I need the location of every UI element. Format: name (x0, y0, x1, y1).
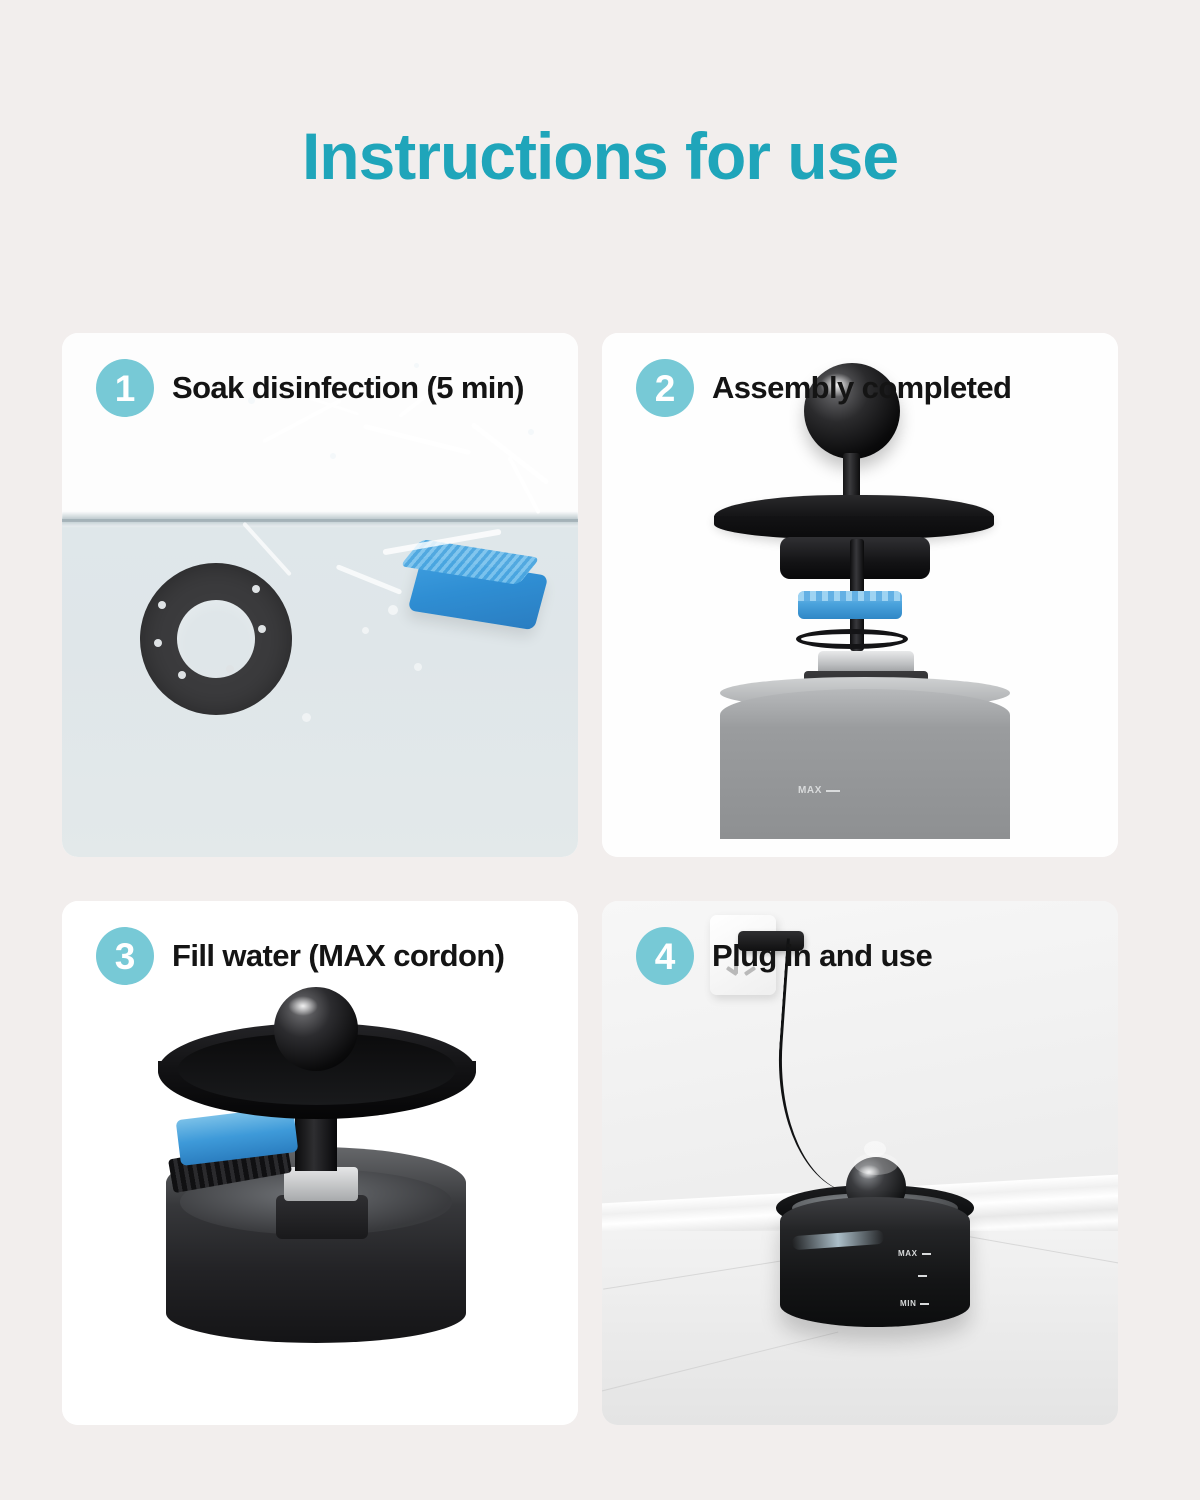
instruction-steps-grid: 1 Soak disinfection (5 min) MAX 2 (62, 333, 1118, 1425)
step-number-badge-3: 3 (96, 927, 154, 985)
underwater-bubble (388, 605, 398, 615)
water-reservoir-part (720, 689, 1010, 839)
fountain-ball-part (274, 987, 358, 1071)
water-pump-part (284, 1167, 358, 1201)
ring-stud (226, 665, 234, 673)
underwater-bubble (414, 663, 422, 671)
water-reservoir-part (780, 1197, 970, 1327)
level-tick-mark (918, 1275, 927, 1277)
min-level-text: MIN (900, 1299, 916, 1308)
page-title: Instructions for use (0, 118, 1200, 194)
level-tick-mark (922, 1253, 931, 1255)
step-card-4: MAX MIN 4 Plug in and use (602, 901, 1118, 1425)
step-header-2: 2 Assembly completed (636, 359, 1011, 417)
ring-stud (258, 625, 266, 633)
step-card-2: MAX 2 Assembly completed (602, 333, 1118, 857)
level-tick-mark (920, 1303, 929, 1305)
step-title-1: Soak disinfection (5 min) (172, 370, 524, 406)
underwater-bubble (362, 627, 369, 634)
step-title-3: Fill water (MAX cordon) (172, 938, 504, 974)
max-level-label: MAX (798, 785, 840, 796)
step-header-3: 3 Fill water (MAX cordon) (96, 927, 504, 985)
ring-stud (154, 639, 162, 647)
silicone-ring-part (796, 629, 908, 649)
step-number-badge-1: 1 (96, 359, 154, 417)
step-number-badge-4: 4 (636, 927, 694, 985)
max-level-label: MAX (898, 1249, 931, 1258)
water-surface-line (62, 519, 578, 522)
step-card-3: MAX MIN 3 Fill water (MAX cordon) (62, 901, 578, 1425)
ball-stem-part (843, 453, 860, 501)
mid-level-mark (918, 1275, 927, 1277)
step-card-1: 1 Soak disinfection (5 min) (62, 333, 578, 857)
step-title-4: Plug in and use (712, 938, 932, 974)
level-tick-mark (826, 790, 840, 792)
blue-filter-part (798, 591, 902, 619)
max-level-text: MAX (898, 1249, 918, 1258)
step-header-1: 1 Soak disinfection (5 min) (96, 359, 524, 417)
step-number-badge-2: 2 (636, 359, 694, 417)
ring-stud (158, 601, 166, 609)
max-level-text: MAX (798, 785, 822, 796)
foam-sponge-part (276, 1195, 368, 1239)
ring-stud (252, 585, 260, 593)
underwater-bubble (302, 713, 311, 722)
ring-stud (178, 671, 186, 679)
water-droplet (528, 429, 534, 435)
step-header-4: 4 Plug in and use (636, 927, 932, 985)
min-level-label: MIN (900, 1299, 929, 1308)
water-splash (854, 1153, 898, 1175)
water-droplet (330, 453, 336, 459)
step-title-2: Assembly completed (712, 370, 1011, 406)
